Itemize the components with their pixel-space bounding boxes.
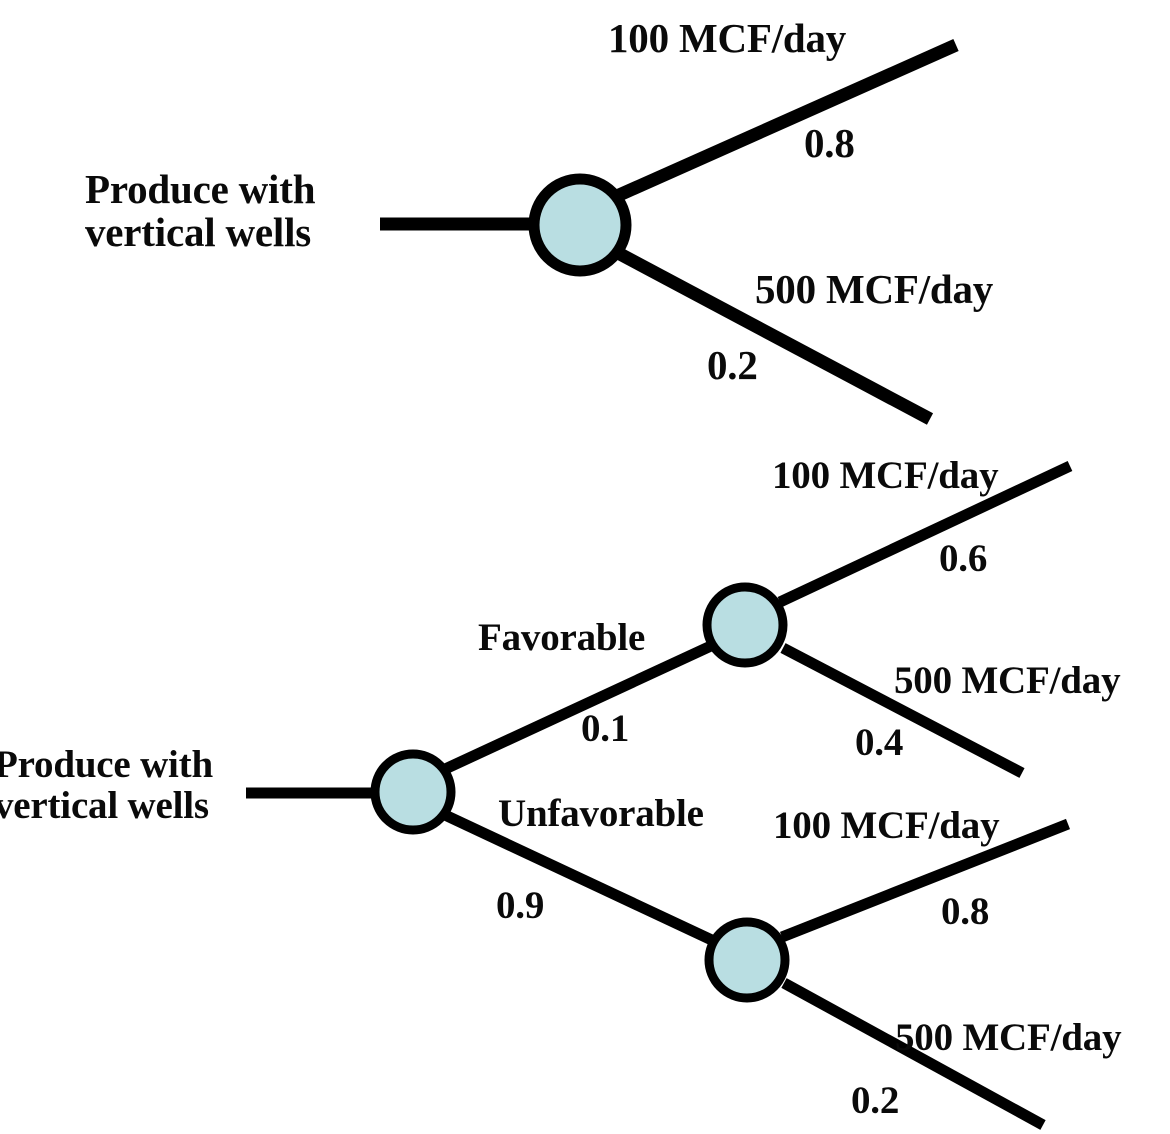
top-probability-02-label: 0.2 bbox=[707, 344, 758, 387]
decision-tree-diagram: Produce withvertical wells 100 MCF/day 0… bbox=[0, 0, 1170, 1134]
favorable-outcome-100-label: 100 MCF/day bbox=[772, 455, 998, 496]
bottom-root-chance-node bbox=[375, 754, 451, 830]
bottom-decision-label: Produce withvertical wells bbox=[0, 744, 213, 827]
state-favorable-probability-label: 0.1 bbox=[581, 708, 629, 749]
bottom-decision-label-line1: Produce with bbox=[0, 743, 213, 786]
bottom-decision-label-line2: vertical wells bbox=[0, 784, 209, 827]
state-unfavorable-label: Unfavorable bbox=[498, 793, 704, 834]
top-outcome-100-label: 100 MCF/day bbox=[608, 17, 846, 60]
favorable-outcome-500-label: 500 MCF/day bbox=[894, 660, 1120, 701]
top-outcome-500-label: 500 MCF/day bbox=[755, 268, 993, 311]
favorable-probability-06-label: 0.6 bbox=[939, 538, 987, 579]
unfavorable-outcome-500-label: 500 MCF/day bbox=[895, 1017, 1121, 1058]
top-branch-100-line bbox=[617, 45, 956, 196]
unfavorable-probability-08-label: 0.8 bbox=[941, 891, 989, 932]
unfavorable-probability-02-label: 0.2 bbox=[851, 1080, 899, 1121]
top-decision-label-line2: vertical wells bbox=[85, 209, 311, 255]
favorable-chance-node bbox=[707, 587, 783, 663]
top-decision-label: Produce withvertical wells bbox=[85, 168, 315, 255]
unfavorable-chance-node bbox=[709, 922, 785, 998]
bottom-branch-favorable-line bbox=[443, 645, 713, 770]
state-unfavorable-probability-label: 0.9 bbox=[496, 885, 544, 926]
unfavorable-outcome-100-label: 100 MCF/day bbox=[773, 805, 999, 846]
top-chance-node bbox=[534, 179, 626, 271]
top-tree-group bbox=[380, 45, 956, 419]
favorable-probability-04-label: 0.4 bbox=[855, 722, 903, 763]
top-probability-08-label: 0.8 bbox=[804, 122, 855, 165]
top-decision-label-line1: Produce with bbox=[85, 166, 315, 212]
state-favorable-label: Favorable bbox=[478, 617, 645, 658]
